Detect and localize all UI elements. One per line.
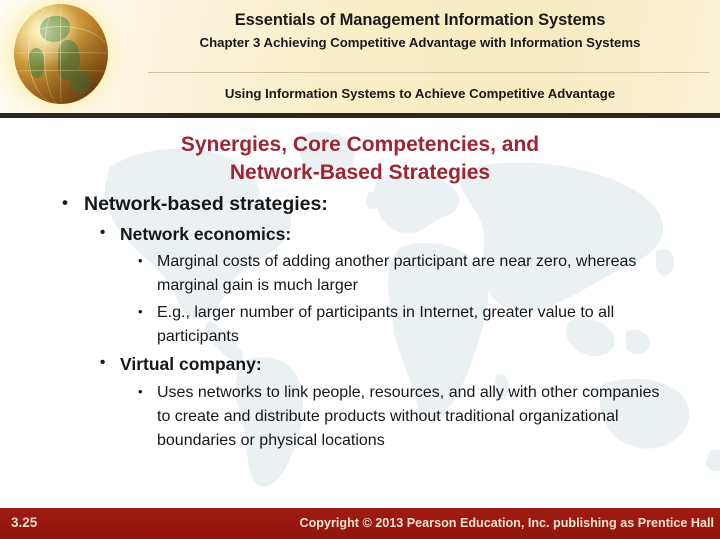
bullet-glyph: •	[100, 223, 120, 240]
slide-title-line-1: Synergies, Core Competencies, and	[60, 131, 660, 159]
slide-body: • Network-based strategies: • Network ec…	[0, 192, 720, 456]
slide-title-line-2: Network-Based Strategies	[60, 159, 660, 187]
bullet-level-3: • E.g., larger number of participants in…	[138, 301, 662, 349]
bullet-text: Network economics:	[120, 223, 720, 245]
globe-icon	[0, 0, 124, 113]
bullet-level-1: • Network-based strategies:	[62, 192, 720, 217]
globe-shading	[14, 4, 108, 104]
slide-number: 3.25	[11, 515, 37, 530]
globe-sphere	[14, 4, 108, 104]
bullet-text: Virtual company:	[120, 353, 720, 375]
slide-header: Essentials of Management Information Sys…	[0, 0, 720, 113]
bullet-text: Network-based strategies:	[84, 192, 720, 217]
bullet-glyph: •	[100, 353, 120, 370]
bullet-text: E.g., larger number of participants in I…	[157, 301, 662, 349]
bullet-level-3: • Marginal costs of adding another parti…	[138, 250, 662, 298]
bullet-glyph: •	[62, 192, 84, 211]
course-title: Essentials of Management Information Sys…	[130, 11, 710, 30]
presentation-slide: Essentials of Management Information Sys…	[0, 0, 720, 539]
bullet-text: Marginal costs of adding another partici…	[157, 250, 662, 298]
bullet-glyph: •	[138, 381, 157, 398]
bullet-level-3: • Uses networks to link people, resource…	[138, 381, 662, 453]
bullet-text: Uses networks to link people, resources,…	[157, 381, 662, 453]
bullet-glyph: •	[138, 250, 157, 267]
slide-title: Synergies, Core Competencies, and Networ…	[60, 131, 660, 186]
header-bottom-border	[0, 113, 720, 118]
slide-footer: 3.25 Copyright © 2013 Pearson Education,…	[0, 508, 720, 539]
bullet-level-2: • Virtual company:	[100, 353, 720, 375]
section-heading: Using Information Systems to Achieve Com…	[130, 86, 710, 101]
header-divider	[148, 72, 710, 73]
copyright-notice: Copyright © 2013 Pearson Education, Inc.…	[300, 516, 714, 530]
chapter-subtitle: Chapter 3 Achieving Competitive Advantag…	[130, 35, 710, 50]
bullet-level-2: • Network economics:	[100, 223, 720, 245]
bullet-glyph: •	[138, 301, 157, 318]
